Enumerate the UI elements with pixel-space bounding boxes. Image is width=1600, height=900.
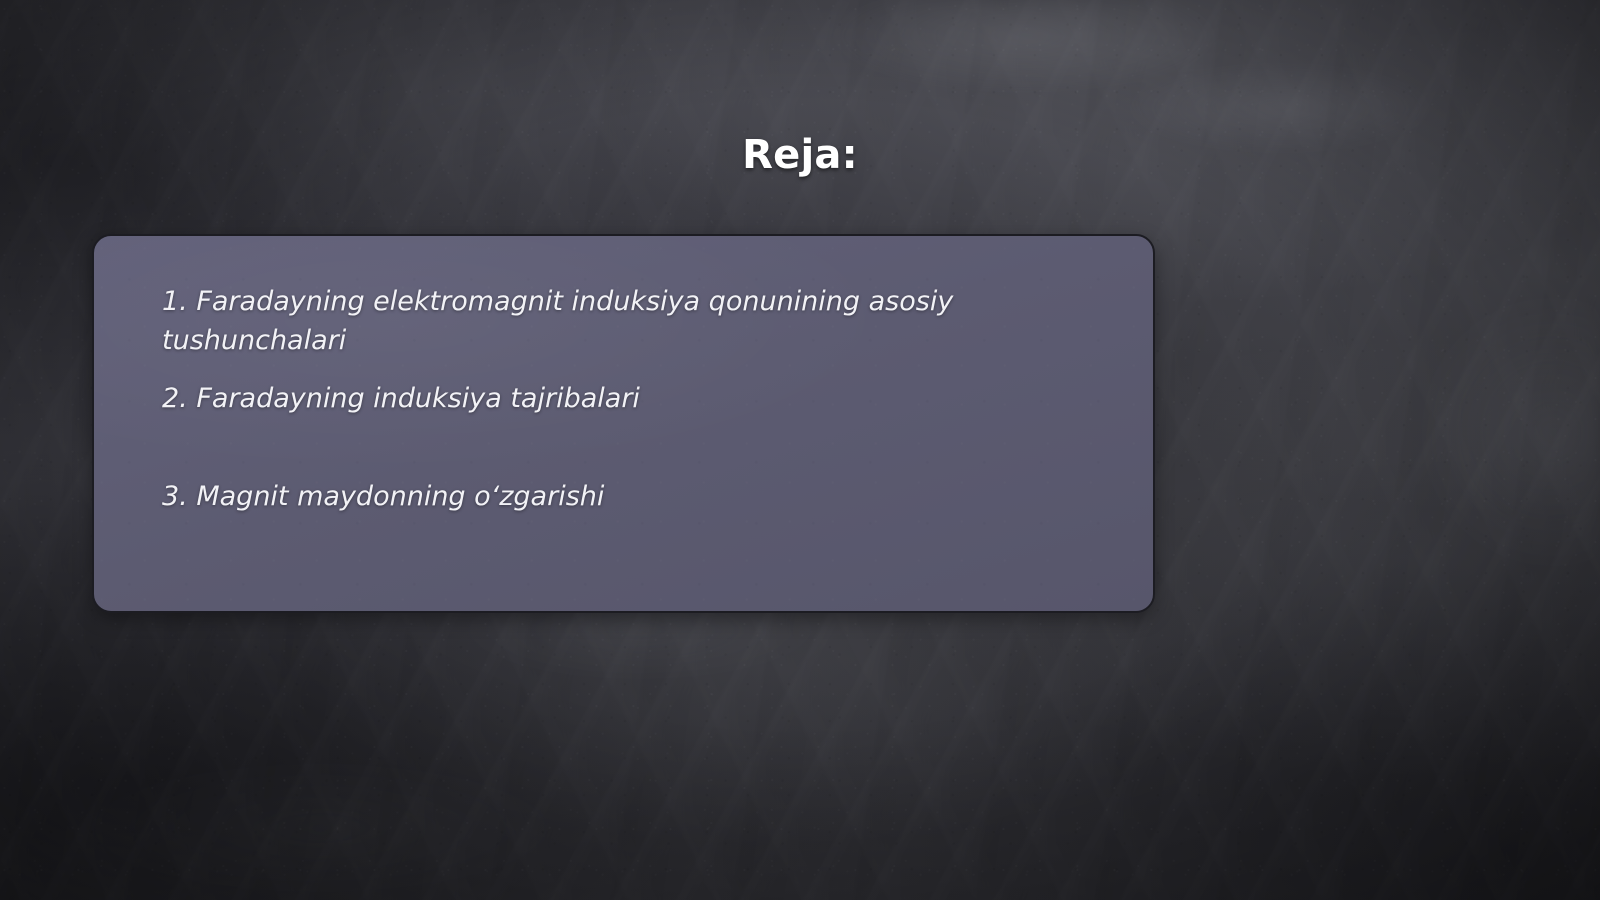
slide-content: Reja: 1. Faradayning elektromagnit induk… [0,0,1600,900]
agenda-item-3: 3. Magnit maydonning oʻzgarishi [162,477,1032,516]
agenda-card: 1. Faradayning elektromagnit induksiya q… [92,234,1155,613]
agenda-item-2: 2. Faradayning induksiya tajribalari [162,379,1032,418]
presentation-slide: Reja: 1. Faradayning elektromagnit induk… [0,0,1600,900]
agenda-list: 1. Faradayning elektromagnit induksiya q… [162,282,1097,516]
slide-title: Reja: [0,132,1600,178]
agenda-item-1: 1. Faradayning elektromagnit induksiya q… [162,282,1032,360]
